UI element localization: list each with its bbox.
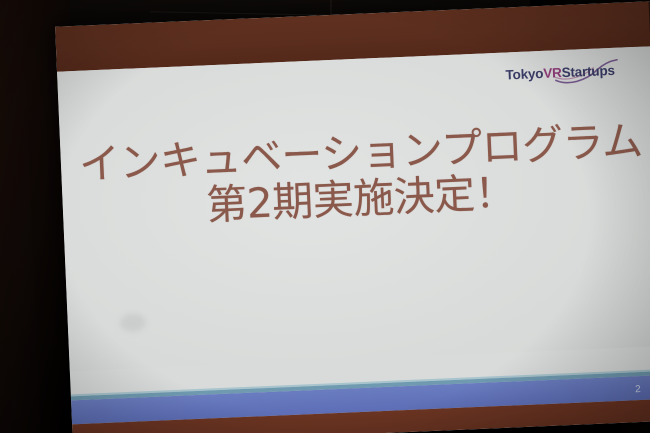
projection-screen: TokyoVRStartups インキュベーションプログラム 第2期実施決定！ … <box>55 1 650 433</box>
logo-text-tokyo: Tokyo <box>505 66 543 83</box>
photo-frame: TokyoVRStartups インキュベーションプログラム 第2期実施決定！ … <box>0 0 650 433</box>
screen-smudge <box>119 313 146 332</box>
slide-page-number: 2 <box>635 384 641 395</box>
presentation-slide: TokyoVRStartups インキュベーションプログラム 第2期実施決定！ … <box>55 1 650 433</box>
logo-text-vr: VR <box>543 65 562 81</box>
logo-text-startups: Startups <box>561 63 615 80</box>
